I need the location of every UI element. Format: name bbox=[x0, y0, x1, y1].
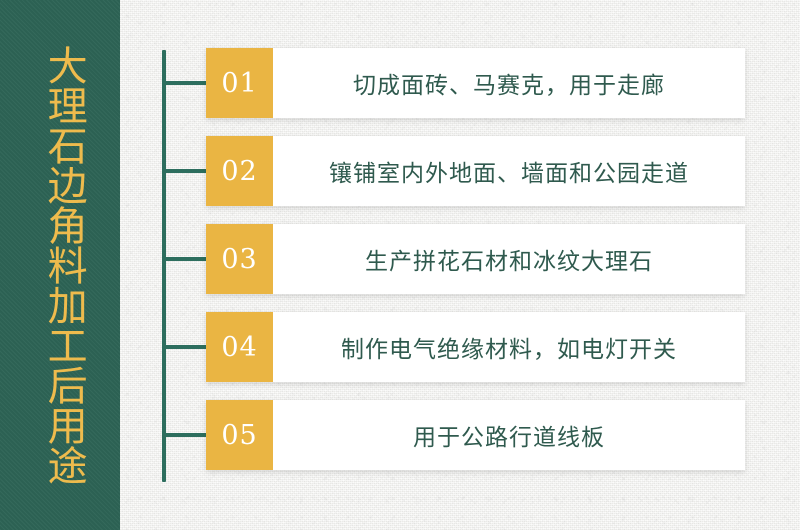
list-item-label: 用于公路行道线板 bbox=[413, 418, 605, 452]
connector-stub-1 bbox=[162, 81, 208, 85]
connector-stub-5 bbox=[162, 433, 208, 437]
infographic-canvas: 大理石边角料加工后用途 01 切成面砖、马赛克，用于走廊 02 镶铺室内外地面、… bbox=[0, 0, 800, 530]
connector-stub-3 bbox=[162, 257, 208, 261]
list-item[interactable]: 01 切成面砖、马赛克，用于走廊 bbox=[206, 48, 745, 118]
list-item-label: 镶铺室内外地面、墙面和公园走道 bbox=[329, 154, 689, 188]
connector-stub-2 bbox=[162, 169, 208, 173]
list-item-label: 制作电气绝缘材料，如电灯开关 bbox=[341, 330, 677, 364]
list-item-number: 01 bbox=[206, 48, 273, 118]
connector-vertical-line bbox=[162, 50, 166, 482]
sidebar-title-panel: 大理石边角料加工后用途 bbox=[0, 0, 120, 530]
list-item-number: 03 bbox=[206, 224, 273, 294]
list-item-number: 02 bbox=[206, 136, 273, 206]
list-item[interactable]: 05 用于公路行道线板 bbox=[206, 400, 745, 470]
list-item-body: 制作电气绝缘材料，如电灯开关 bbox=[273, 312, 745, 382]
list-item[interactable]: 04 制作电气绝缘材料，如电灯开关 bbox=[206, 312, 745, 382]
list-item[interactable]: 03 生产拼花石材和冰纹大理石 bbox=[206, 224, 745, 294]
list-item-label: 生产拼花石材和冰纹大理石 bbox=[365, 242, 653, 276]
list-item-body: 切成面砖、马赛克，用于走廊 bbox=[273, 48, 745, 118]
list-item-number: 04 bbox=[206, 312, 273, 382]
list-item-body: 用于公路行道线板 bbox=[273, 400, 745, 470]
list-item-label: 切成面砖、马赛克，用于走廊 bbox=[353, 66, 665, 100]
list-item[interactable]: 02 镶铺室内外地面、墙面和公园走道 bbox=[206, 136, 745, 206]
list-item-body: 生产拼花石材和冰纹大理石 bbox=[273, 224, 745, 294]
connector-stub-4 bbox=[162, 345, 208, 349]
list-item-body: 镶铺室内外地面、墙面和公园走道 bbox=[273, 136, 745, 206]
list-item-number: 05 bbox=[206, 400, 273, 470]
page-title: 大理石边角料加工后用途 bbox=[0, 0, 120, 530]
